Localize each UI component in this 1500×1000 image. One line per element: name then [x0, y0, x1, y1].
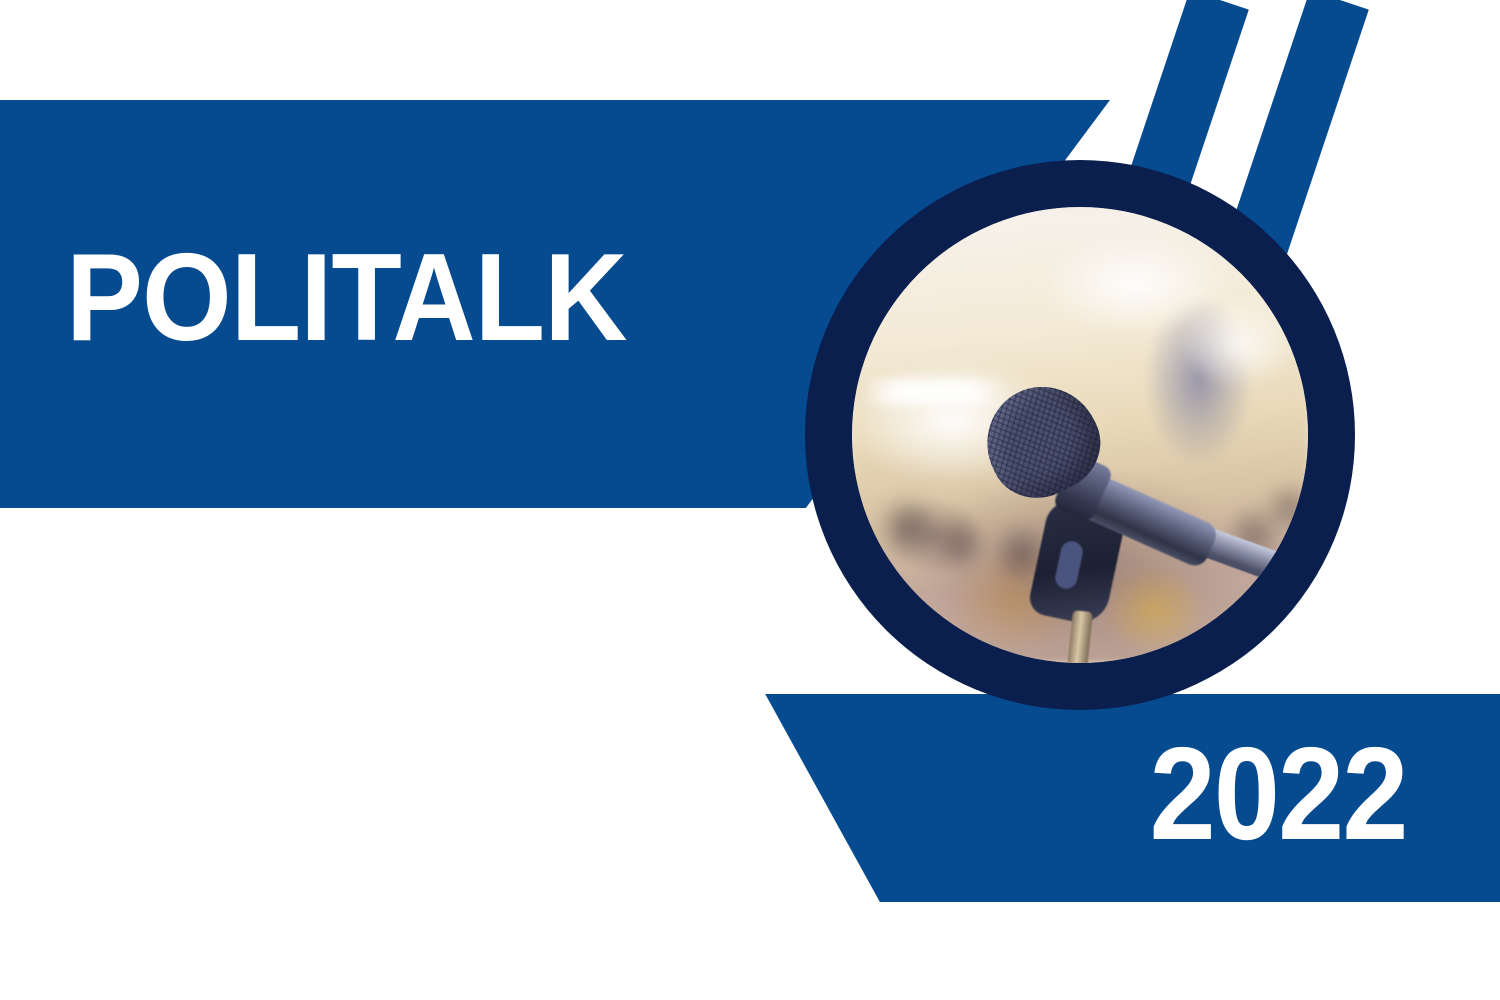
banner-canvas: POLITALK 2022 — [0, 0, 1500, 1000]
medallion-ring — [805, 160, 1355, 710]
year-banner: 2022 — [760, 694, 1500, 902]
page-title: POLITALK — [66, 236, 627, 360]
microphone-photo — [852, 207, 1308, 663]
year-label: 2022 — [1150, 728, 1407, 860]
